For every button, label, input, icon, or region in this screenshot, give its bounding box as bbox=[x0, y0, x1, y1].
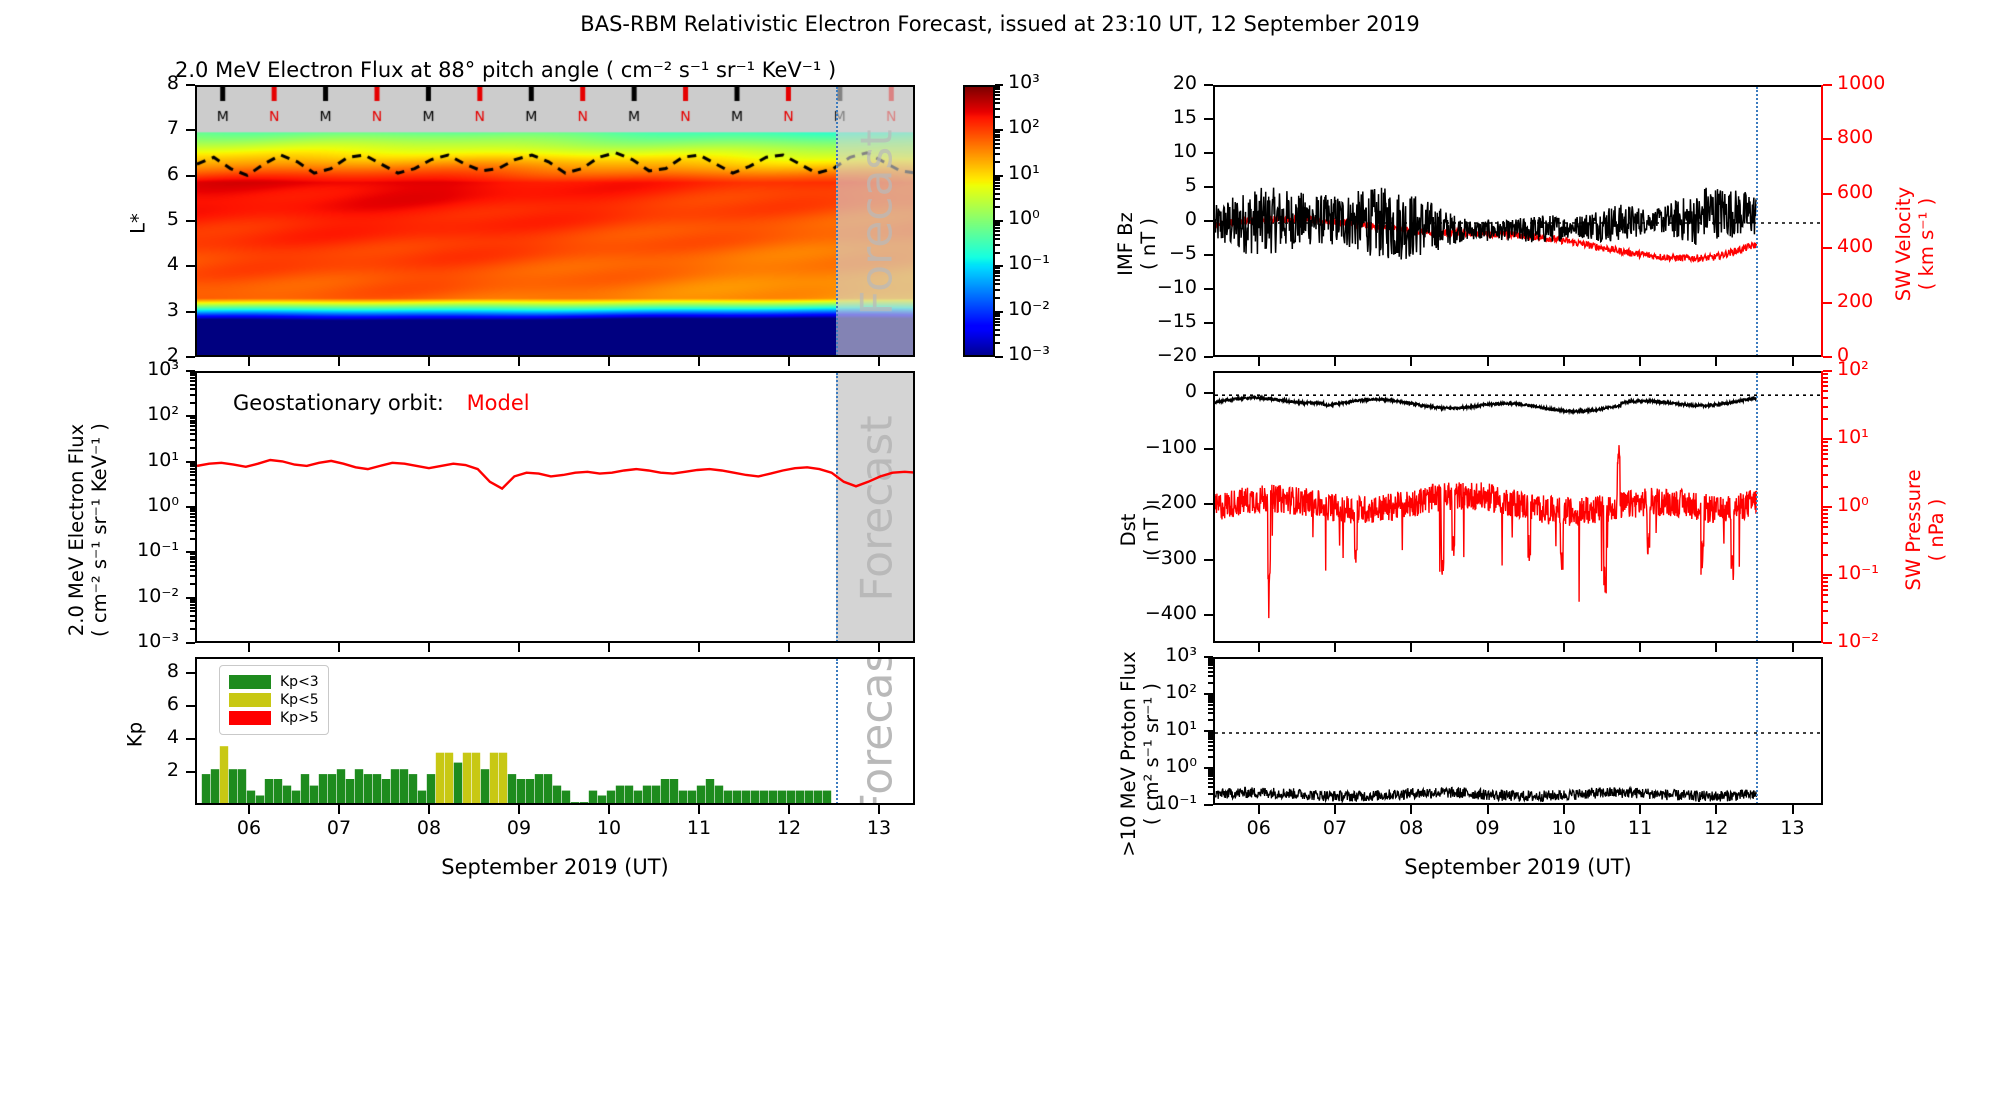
kp-xlabel: September 2019 (UT) bbox=[195, 855, 915, 879]
kp-xtick: 06 bbox=[219, 817, 279, 839]
kp-bar bbox=[409, 774, 417, 805]
kp-bar bbox=[544, 774, 552, 805]
proton-flux-ylabel-line1: >10 MeV Proton Flux bbox=[1117, 651, 1140, 856]
proton-flux-ylabel-line2: ( cm² s⁻¹ sr⁻¹ ) bbox=[1140, 683, 1163, 825]
kp-bar bbox=[463, 753, 471, 805]
colorbar-tick-label: 10¹ bbox=[1008, 162, 1040, 184]
sw-velocity-ytick: 1000 bbox=[1837, 72, 1957, 94]
sw-pressure-ylabel-line2: ( nPa ) bbox=[1925, 499, 1948, 562]
kp-bar bbox=[283, 786, 291, 805]
forecast-boundary-flux-map bbox=[836, 87, 838, 357]
kp-bar bbox=[670, 779, 678, 805]
dst-ytick: 0 bbox=[1077, 380, 1197, 402]
kp-bar bbox=[742, 791, 750, 805]
kp-bar bbox=[436, 753, 444, 805]
proton-flux-axes[interactable] bbox=[1213, 657, 1823, 805]
kp-bar bbox=[553, 786, 561, 805]
kp-legend-label: Kp<3 bbox=[280, 674, 319, 690]
kp-bar bbox=[400, 769, 408, 805]
proton-xtick: 12 bbox=[1686, 817, 1746, 839]
dst-ylabel-line1: Dst bbox=[1117, 514, 1140, 547]
kp-xtick: 07 bbox=[309, 817, 369, 839]
kp-bar bbox=[202, 774, 210, 805]
dst-axes[interactable] bbox=[1213, 371, 1823, 643]
kp-bar bbox=[391, 769, 399, 805]
geo-flux-model-line bbox=[197, 460, 915, 489]
flux-map-ytick: 8 bbox=[59, 72, 179, 94]
kp-bar bbox=[418, 791, 426, 805]
kp-bar bbox=[724, 791, 732, 805]
kp-bar bbox=[274, 779, 282, 805]
kp-bar bbox=[652, 786, 660, 805]
sw-velocity-ylabel-right: SW Velocity ( km s⁻¹ ) bbox=[1892, 129, 1938, 359]
proton-xtick: 11 bbox=[1610, 817, 1670, 839]
kp-legend-label: Kp<5 bbox=[280, 692, 319, 708]
kp-bar bbox=[454, 763, 462, 805]
kp-bar bbox=[256, 796, 264, 806]
flux-map-title: 2.0 MeV Electron Flux at 88° pitch angle… bbox=[175, 58, 836, 82]
dst-ylabel-line2: ( nT ) bbox=[1140, 504, 1163, 556]
kp-bar bbox=[382, 779, 390, 805]
geo-legend-static-text: Geostationary orbit: bbox=[233, 391, 444, 415]
kp-legend-label: Kp>5 bbox=[280, 710, 319, 726]
geostationary-flux-axes[interactable]: Forecast Geostationary orbit: Model bbox=[195, 371, 915, 643]
geo-flux-ylabel: 2.0 MeV Electron Flux ( cm⁻² s⁻¹ sr⁻¹ Ke… bbox=[65, 380, 111, 680]
colorbar-tick-label: 10⁻² bbox=[1008, 298, 1050, 320]
kp-legend-row: Kp>5 bbox=[229, 710, 319, 726]
kp-xtick: 08 bbox=[399, 817, 459, 839]
kp-bar bbox=[580, 802, 588, 805]
flux-map-ytick: 7 bbox=[59, 117, 179, 139]
kp-bar bbox=[625, 786, 633, 805]
kp-bar bbox=[823, 791, 831, 805]
kp-bar bbox=[796, 791, 804, 805]
kp-axes[interactable]: Forecast Kp<3Kp<5Kp>5 bbox=[195, 657, 915, 805]
kp-bar bbox=[346, 779, 354, 805]
proton-flux-line bbox=[1215, 787, 1756, 801]
kp-xtick: 12 bbox=[759, 817, 819, 839]
kp-bar bbox=[445, 753, 453, 805]
kp-bar bbox=[517, 779, 525, 805]
proton-xtick: 08 bbox=[1381, 817, 1441, 839]
kp-bar bbox=[688, 791, 696, 805]
kp-bar bbox=[238, 769, 246, 805]
kp-bar bbox=[778, 791, 786, 805]
kp-bar bbox=[787, 791, 795, 805]
kp-ylabel: Kp bbox=[124, 700, 147, 770]
kp-bar bbox=[292, 791, 300, 805]
figure-title: BAS-RBM Relativistic Electron Forecast, … bbox=[0, 12, 2000, 36]
imf-ytick: 20 bbox=[1077, 72, 1197, 94]
proton-xtick: 09 bbox=[1458, 817, 1518, 839]
kp-bar bbox=[805, 791, 813, 805]
imf-bz-axes[interactable] bbox=[1213, 85, 1823, 357]
kp-bar bbox=[490, 753, 498, 805]
imf-ytick: 15 bbox=[1077, 106, 1197, 128]
kp-bar bbox=[526, 779, 534, 805]
imf-right-spine bbox=[1821, 85, 1823, 357]
kp-bar bbox=[589, 791, 597, 805]
dst-line bbox=[1215, 397, 1756, 412]
kp-bar bbox=[751, 791, 759, 805]
kp-bar bbox=[607, 791, 615, 805]
kp-bar bbox=[481, 769, 489, 805]
sw-pressure-ytick: 10² bbox=[1837, 358, 1957, 380]
kp-legend-swatch bbox=[229, 693, 271, 707]
kp-bar bbox=[220, 746, 228, 805]
kp-bar bbox=[247, 791, 255, 805]
proton-xlabel: September 2019 (UT) bbox=[1213, 855, 1823, 879]
colorbar-tick-label: 10² bbox=[1008, 116, 1040, 138]
geo-legend-model-text: Model bbox=[467, 391, 530, 415]
kp-bar bbox=[598, 796, 606, 806]
proton-xtick: 10 bbox=[1534, 817, 1594, 839]
kp-bar bbox=[616, 786, 624, 805]
kp-xtick: 13 bbox=[849, 817, 909, 839]
flux-colorbar[interactable] bbox=[963, 85, 995, 357]
proton-xtick: 13 bbox=[1763, 817, 1823, 839]
kp-bar bbox=[265, 779, 273, 805]
kp-bar bbox=[472, 753, 480, 805]
kp-legend-swatch bbox=[229, 711, 271, 725]
colorbar-tick-label: 10⁻¹ bbox=[1008, 252, 1050, 274]
kp-bar bbox=[814, 791, 822, 805]
geo-flux-ylabel-line1: 2.0 MeV Electron Flux bbox=[65, 424, 88, 636]
forecast-boundary-proton bbox=[1756, 659, 1758, 805]
kp-bar bbox=[355, 769, 363, 805]
kp-bar bbox=[715, 786, 723, 805]
kp-bar bbox=[328, 774, 336, 805]
kp-ytick: 2 bbox=[59, 759, 179, 781]
kp-bar bbox=[661, 779, 669, 805]
kp-bar bbox=[319, 774, 327, 805]
kp-bar bbox=[337, 769, 345, 805]
kp-legend: Kp<3Kp<5Kp>5 bbox=[219, 665, 329, 735]
kp-bar bbox=[535, 774, 543, 805]
geo-flux-ylabel-line2: ( cm⁻² s⁻¹ sr⁻¹ KeV⁻¹ ) bbox=[88, 423, 111, 637]
kp-bar bbox=[427, 774, 435, 805]
kp-bar bbox=[679, 791, 687, 805]
kp-bar bbox=[571, 802, 579, 805]
forecast-watermark-flux-map: Forecast bbox=[851, 113, 902, 333]
kp-bar bbox=[373, 774, 381, 805]
proton-flux-ylabel: >10 MeV Proton Flux ( cm² s⁻¹ sr⁻¹ ) bbox=[1117, 589, 1163, 919]
imf-bz-ylabel-left: IMF Bz ( nT ) bbox=[1114, 129, 1160, 359]
kp-bar bbox=[733, 791, 741, 805]
forecast-boundary-dst bbox=[1756, 373, 1758, 643]
sw-pressure-line bbox=[1215, 445, 1756, 618]
imf-bz-line bbox=[1215, 188, 1756, 260]
flux-map-ylabel: L* bbox=[127, 194, 150, 254]
kp-bar bbox=[769, 791, 777, 805]
flux-map-ytick: 4 bbox=[59, 253, 179, 275]
geo-legend: Geostationary orbit: Model bbox=[233, 391, 530, 415]
flux-map-ytick: 5 bbox=[59, 208, 179, 230]
imf-bz-ylabel-line1: IMF Bz bbox=[1114, 212, 1137, 276]
geo-flux-ytick: 10³ bbox=[59, 358, 179, 380]
kp-bar bbox=[508, 774, 516, 805]
proton-xtick: 07 bbox=[1305, 817, 1365, 839]
kp-xtick: 10 bbox=[579, 817, 639, 839]
kp-bar bbox=[364, 774, 372, 805]
colorbar-tick-label: 10⁻³ bbox=[1008, 343, 1050, 365]
proton-xtick: 06 bbox=[1229, 817, 1289, 839]
kp-bar bbox=[643, 786, 651, 805]
flux-lstar-heatmap-axes[interactable]: Forecast bbox=[195, 85, 915, 357]
kp-legend-row: Kp<5 bbox=[229, 692, 319, 708]
kp-bar bbox=[634, 791, 642, 805]
kp-ytick: 8 bbox=[59, 660, 179, 682]
sw-velocity-ylabel-line2: ( km s⁻¹ ) bbox=[1915, 198, 1938, 290]
kp-bar bbox=[211, 769, 219, 805]
colorbar-tick-label: 10³ bbox=[1008, 71, 1040, 93]
kp-bar bbox=[760, 791, 768, 805]
flux-map-ytick: 6 bbox=[59, 163, 179, 185]
sw-pressure-ylabel-right: SW Pressure ( nPa ) bbox=[1902, 410, 1948, 650]
kp-bar bbox=[562, 791, 570, 805]
kp-xtick: 11 bbox=[669, 817, 729, 839]
kp-legend-row: Kp<3 bbox=[229, 674, 319, 690]
imf-bz-ylabel-line2: ( nT ) bbox=[1137, 218, 1160, 270]
kp-ytick: 6 bbox=[59, 693, 179, 715]
sw-velocity-ylabel-line1: SW Velocity bbox=[1892, 187, 1915, 301]
forecast-boundary-imf bbox=[1756, 87, 1758, 357]
kp-bar bbox=[499, 753, 507, 805]
kp-ytick: 4 bbox=[59, 726, 179, 748]
kp-bar bbox=[301, 774, 309, 805]
kp-xtick: 09 bbox=[489, 817, 549, 839]
kp-bar bbox=[229, 769, 237, 805]
kp-bar bbox=[706, 779, 714, 805]
kp-bar bbox=[697, 786, 705, 805]
flux-map-ytick: 3 bbox=[59, 299, 179, 321]
sw-pressure-ylabel-line1: SW Pressure bbox=[1902, 469, 1925, 590]
kp-legend-swatch bbox=[229, 675, 271, 689]
colorbar-tick-label: 10⁰ bbox=[1008, 207, 1040, 229]
dst-right-spine bbox=[1821, 371, 1823, 643]
kp-bar bbox=[310, 786, 318, 805]
